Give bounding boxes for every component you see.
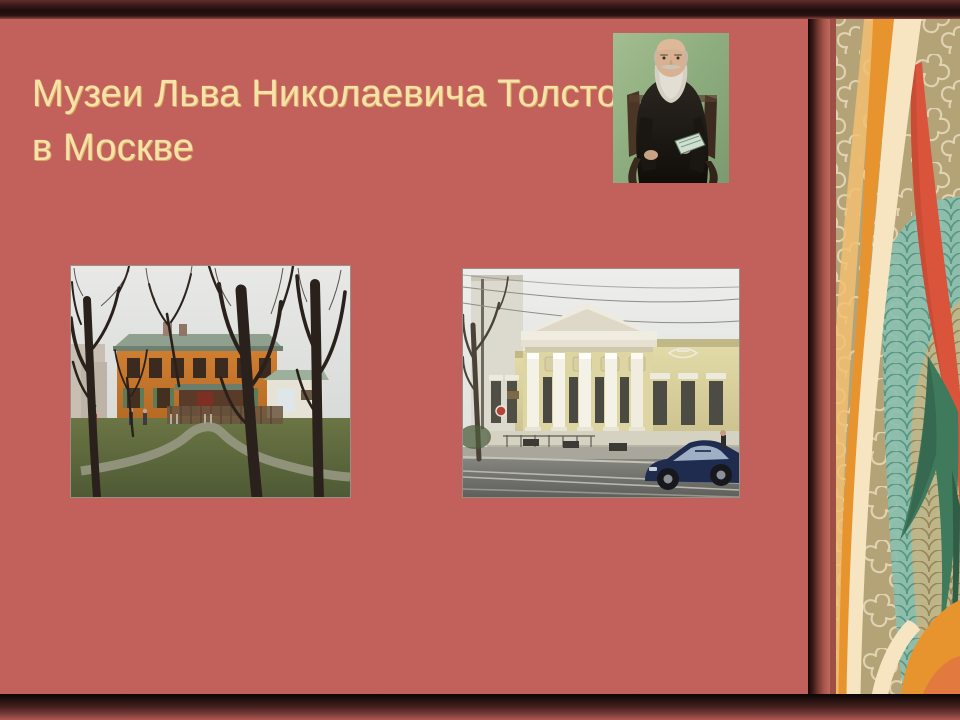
photo-prechistenka-museum: [462, 268, 740, 498]
photo-khamovniki-museum: [70, 265, 351, 498]
portrait-lev-tolstoy: [613, 33, 729, 183]
presentation-slide: Музеи Льва Николаевича Толстого в Москве: [0, 0, 960, 720]
page-title: Музеи Льва Николаевича Толстого в Москве: [32, 68, 672, 176]
ornamental-side-band: [808, 0, 960, 720]
